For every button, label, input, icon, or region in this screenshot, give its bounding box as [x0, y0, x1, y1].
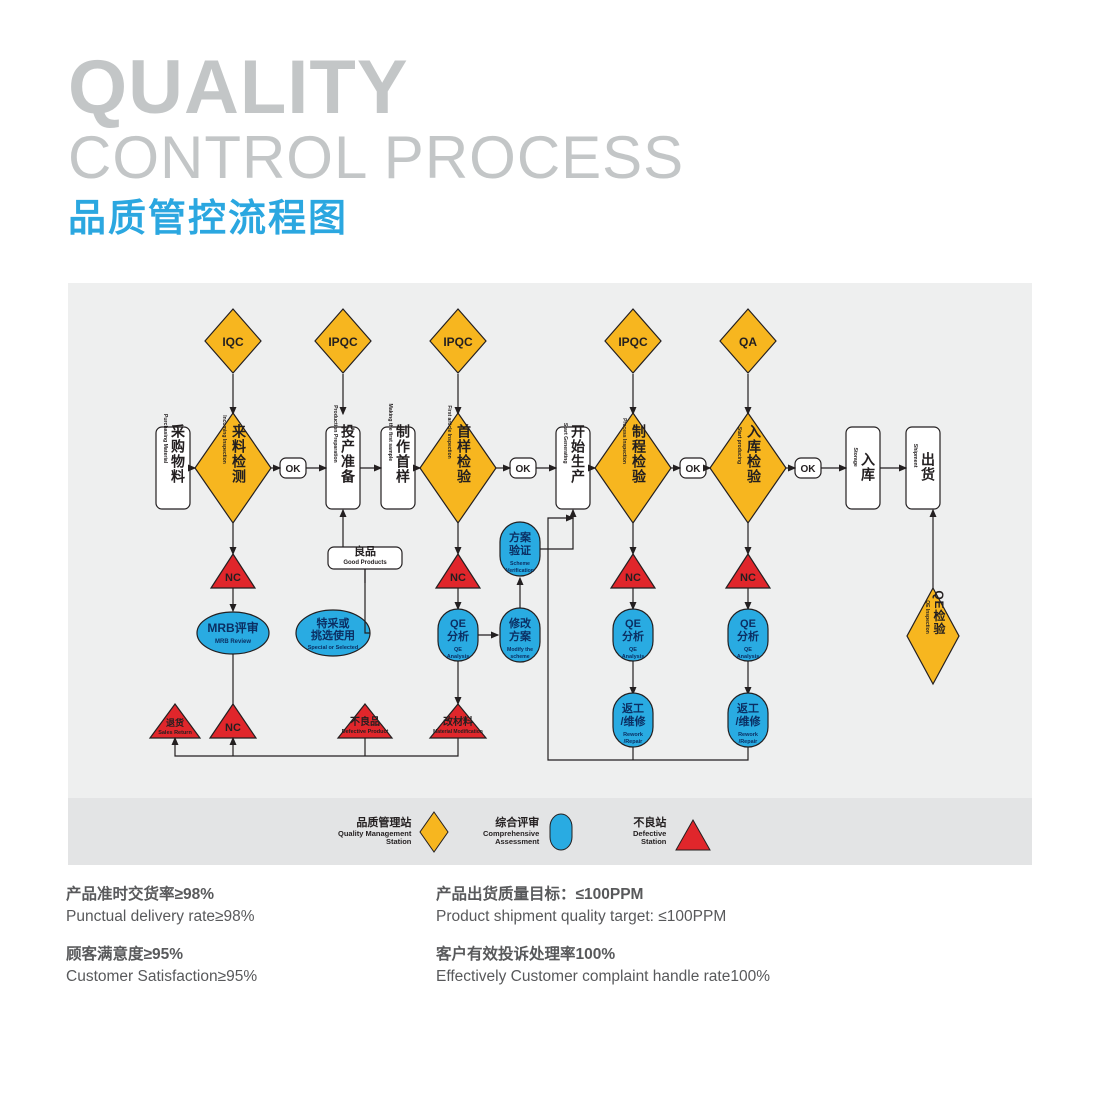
text-line: 分析 — [447, 629, 469, 643]
good-products-cn: 良品 — [354, 544, 376, 558]
text-line: 分析 — [737, 629, 759, 643]
material-en: Material Modification — [433, 729, 483, 735]
legend-panel: 品质管理站 Quality Management Station 综合评审 Co… — [68, 798, 1032, 865]
ok-box-4-label: OK — [801, 464, 817, 475]
material-cn: 改材料 — [443, 715, 473, 728]
legend-item-comprehensive: 综合评审 Comprehensive Assessment — [483, 810, 575, 854]
text-line: 验证 — [509, 543, 531, 557]
flowchart-svg: IQCIPQCIPQCIPQCQA采购物料Purchasing Material… — [68, 283, 1032, 798]
flowchart-panel: IQCIPQCIPQCIPQCQA采购物料Purchasing Material… — [68, 283, 1032, 798]
box-shipment-en: Shipment — [912, 444, 918, 468]
legend-cn: 不良站 — [633, 817, 666, 830]
page-title: QUALITY CONTROL PROCESS 品质管控流程图 — [68, 52, 684, 241]
station-label-qa: QA — [739, 335, 757, 349]
text-line: MRB Review — [215, 639, 251, 645]
diamond-first-article-cn: 首样检验 — [456, 423, 472, 484]
box-purchasing-en: Purchasing Material — [162, 414, 168, 464]
rework2-en: Rework/Repair — [738, 732, 759, 745]
text-line: /维修 — [620, 714, 646, 728]
text-line: MRB评审 — [207, 620, 258, 635]
text-line: Scheme — [510, 561, 530, 567]
nc-label-3: NC — [625, 572, 641, 584]
station-label-ipqc1: IPQC — [328, 335, 358, 349]
text-line: /维修 — [735, 714, 761, 728]
nc-label-4: NC — [740, 572, 756, 584]
text-line: Rework — [623, 732, 644, 738]
text-line: Analysis — [737, 654, 760, 660]
text-line: /Repair — [624, 739, 644, 745]
diamond-incoming-inspection-cn: 来料检测 — [231, 424, 247, 484]
text-line: 分析 — [622, 629, 644, 643]
text-line: 改材料 — [443, 715, 473, 728]
oval-icon — [547, 810, 575, 854]
kpi-en: Customer Satisfaction≥95% — [66, 966, 257, 988]
text-line: 返工 — [737, 701, 759, 715]
triangle-icon — [674, 810, 712, 854]
special-en: Special or Selected — [308, 645, 358, 651]
legend-item-quality-mgmt: 品质管理站 Quality Management Station — [338, 810, 449, 854]
text-line: 方案 — [509, 629, 532, 643]
kpi-delivery: 产品准时交货率≥98% Punctual delivery rate≥98% — [66, 884, 255, 929]
kpi-cn: 产品准时交货率≥98% — [66, 884, 255, 906]
text-line: 修改 — [508, 616, 532, 630]
nc-label-1: NC — [225, 572, 241, 584]
diamond-process-inspection-cn: 制程检验 — [631, 423, 647, 484]
text-line: QE — [744, 647, 752, 653]
legend-cn: 品质管理站 — [338, 817, 411, 830]
text-line: 良品 — [354, 544, 376, 558]
verify-en: SchemeVerification — [506, 561, 534, 574]
box-first-sample-en: Making the first sample — [387, 404, 393, 462]
kpi-cn: 顾客满意度≥95% — [66, 944, 257, 966]
rework2-cn: 返工/维修 — [735, 701, 761, 728]
box-start-prod-en: Start Generating — [562, 423, 568, 464]
nc-label-2: NC — [450, 572, 466, 584]
station-label-iqc: IQC — [222, 335, 244, 349]
box-prod-prep-cn: 投产准备 — [340, 424, 356, 484]
rework1-en: Rework/Repair — [623, 732, 644, 745]
station-label-ipqc2: IPQC — [443, 335, 473, 349]
box-shipment-cn: 出货 — [920, 451, 936, 482]
station-label-ipqc3: IPQC — [618, 335, 648, 349]
text-line: Analysis — [447, 654, 470, 660]
kpi-en: Punctual delivery rate≥98% — [66, 906, 255, 928]
qe3-cn: QE分析 — [737, 618, 759, 643]
defective-cn: 不良品 — [350, 715, 380, 728]
special-cn: 特采或挑选使用 — [311, 616, 355, 642]
qe-inspection-en: QE Inspection — [924, 600, 930, 634]
box-prod-prep-en: Production Preparation — [332, 405, 338, 463]
diamond-process-inspection-en: Process Inspection — [621, 418, 627, 464]
text-line: Material Modification — [433, 729, 483, 735]
text-line: 退货 — [166, 717, 184, 728]
kpi-en: Product shipment quality target: ≤100PPM — [436, 906, 726, 928]
qe-inspection-cn: QE检验 — [932, 590, 946, 635]
defective-en: Defective Product — [342, 729, 389, 735]
text-line: Modify the — [507, 647, 533, 653]
ok-box-1-label: OK — [286, 464, 302, 475]
box-first-sample-cn: 制作首样 — [395, 423, 411, 484]
ok-box-3-label: OK — [686, 464, 702, 475]
modify-cn: 修改方案 — [508, 616, 532, 643]
text-line: QE — [454, 647, 462, 653]
verify-to-startprod — [540, 510, 573, 549]
diamond-instorage-inspection-cn: 入库检验 — [746, 424, 762, 484]
modify-en: Modify thescheme — [507, 647, 533, 660]
diamond-first-article-en: First article Inspection — [446, 405, 452, 458]
sales-return-cn: 退货 — [166, 717, 184, 728]
text-line: Analysis — [622, 654, 645, 660]
box-storage-cn: 入库 — [860, 452, 876, 482]
rework1-cn: 返工/维修 — [620, 701, 646, 728]
text-line: 不良品 — [350, 715, 380, 728]
kpi-cn: 产品出货质量目标：≤100PPM — [436, 884, 726, 906]
verify-cn: 方案验证 — [509, 530, 532, 557]
text-line: QE — [629, 647, 637, 653]
box-start-prod-cn: 开始生产 — [570, 424, 586, 484]
title-control: CONTROL PROCESS — [68, 126, 684, 189]
bottom-nc-label: NC — [225, 722, 241, 734]
diamond-icon — [419, 810, 449, 854]
diamond-incoming-inspection-en: Incoming Inspection — [221, 415, 227, 464]
text-line: 返工 — [622, 701, 644, 715]
legend-en-line2: Station — [338, 838, 411, 847]
text-line: 方案 — [509, 530, 532, 544]
text-line: /Repair — [739, 739, 759, 745]
legend-en-line2: Assessment — [483, 838, 539, 847]
text-line: scheme — [510, 654, 529, 660]
text-line: QE — [450, 618, 466, 630]
ok-box-2-label: OK — [516, 464, 532, 475]
qe2-cn: QE分析 — [622, 618, 644, 643]
title-quality: QUALITY — [68, 52, 684, 124]
text-line: QE — [740, 618, 756, 630]
kpi-cn: 客户有效投诉处理率100% — [436, 944, 770, 966]
kpi-en: Effectively Customer complaint handle ra… — [436, 966, 770, 988]
legend-cn: 综合评审 — [483, 817, 539, 830]
text-line: 挑选使用 — [311, 628, 355, 642]
text-line: Good Products — [343, 560, 387, 566]
text-line: Verification — [506, 568, 534, 574]
text-line: QE — [625, 618, 641, 630]
mrb-cn: MRB评审 — [207, 620, 258, 635]
legend-item-defective: 不良站 Defective Station — [633, 810, 712, 854]
text-line: Sales Return — [158, 730, 192, 736]
kpi-complaint: 客户有效投诉处理率100% Effectively Customer compl… — [436, 944, 770, 989]
diamond-instorage-inspection-en: Start producing — [736, 427, 742, 464]
text-line: Special or Selected — [308, 645, 358, 651]
legend-en-line2: Station — [633, 838, 666, 847]
text-line: Defective Product — [342, 729, 389, 735]
sales-return-en: Sales Return — [158, 730, 192, 736]
kpi-shipment-ppm: 产品出货质量目标：≤100PPM Product shipment qualit… — [436, 884, 726, 929]
text-line: Rework — [738, 732, 759, 738]
kpi-satisfaction: 顾客满意度≥95% Customer Satisfaction≥95% — [66, 944, 257, 989]
bottom-bus-left — [175, 738, 458, 756]
mrb-en: MRB Review — [215, 639, 251, 645]
good-products-en: Good Products — [343, 560, 387, 566]
text-line: 特采或 — [317, 616, 350, 630]
text-line: NC — [225, 722, 241, 734]
box-purchasing-cn: 采购物料 — [170, 423, 186, 484]
title-chinese: 品质管控流程图 — [68, 199, 684, 241]
qe1-cn: QE分析 — [447, 618, 469, 643]
box-storage-en: Storage — [852, 447, 858, 466]
